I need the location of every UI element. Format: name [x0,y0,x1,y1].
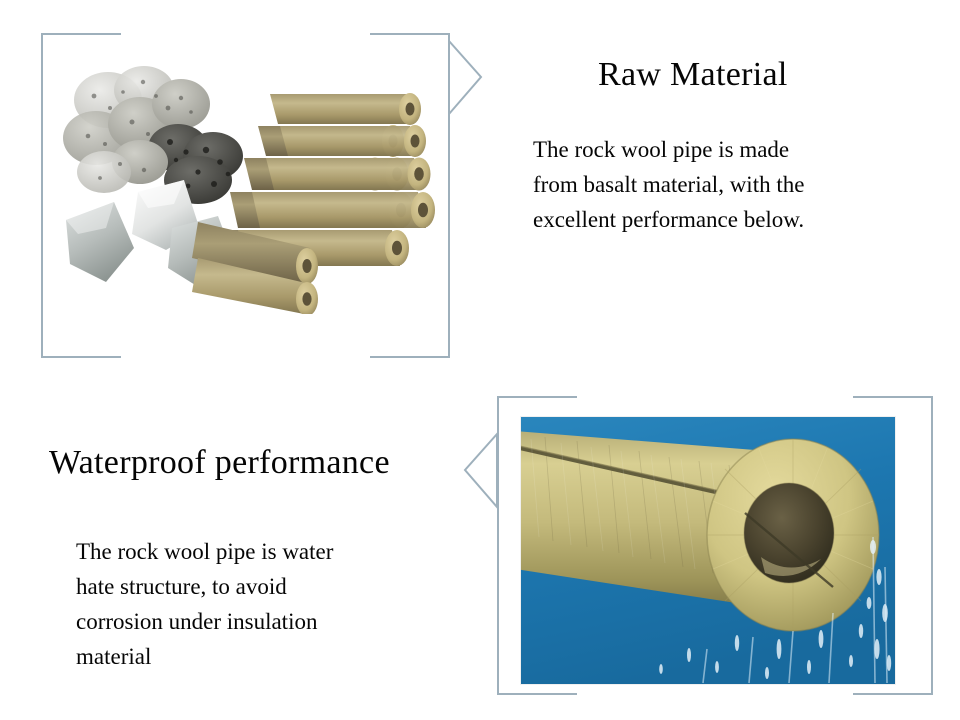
top-frame-top-left-bar [41,33,121,35]
top-frame-left-bar [41,33,43,358]
top-frame-top-right-bar [370,33,450,35]
description-line: corrosion under insulation [76,604,406,639]
bottom-frame-top-right-bar [853,396,933,398]
rock-wool-pipe-water-repellent-photo [521,417,895,684]
page-title-waterproof-performance: Waterproof performance [49,444,390,482]
description-line: The rock wool pipe is made [533,132,883,167]
bottom-frame-top-left-bar [497,396,577,398]
description-line: material [76,639,406,674]
description-waterproof-performance: The rock wool pipe is water hate structu… [76,534,406,674]
description-line: from basalt material, with the [533,167,883,202]
slide-canvas: Raw Material The rock wool pipe is made … [0,0,960,720]
bottom-frame-bottom-left-bar [497,693,577,695]
description-line: hate structure, to avoid [76,569,406,604]
arrow-left-icon [462,433,498,509]
page-title-raw-material: Raw Material [598,56,788,94]
bottom-frame-right-bar [931,396,933,695]
description-raw-material: The rock wool pipe is made from basalt m… [533,132,883,237]
top-frame-bottom-left-bar [41,356,121,358]
rock-wool-pipes-and-basalt-rocks-photo [48,52,446,314]
top-frame-bottom-right-bar [370,356,450,358]
bottom-frame-bottom-right-bar [853,693,933,695]
description-line: The rock wool pipe is water [76,534,406,569]
description-line: excellent performance below. [533,202,883,237]
arrow-right-icon [448,40,484,116]
